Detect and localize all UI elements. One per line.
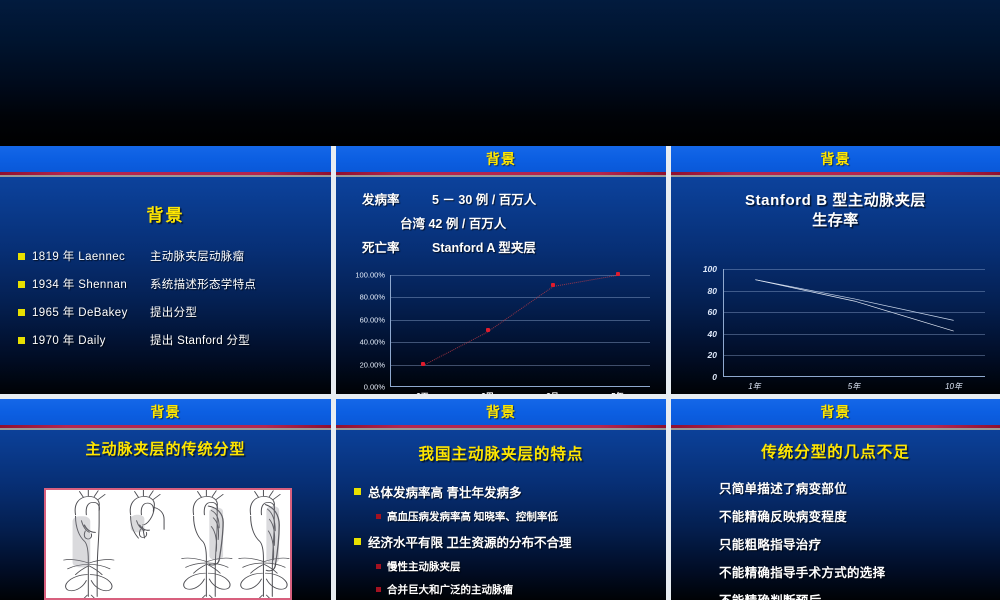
gridline (724, 312, 985, 313)
slide3-headline-line2: 生存率 (671, 211, 1000, 231)
list-item: 合并巨大和广泛的主动脉瘤 (376, 582, 666, 597)
history-year: 1819 年 Laennec (32, 248, 150, 264)
slide5-headline: 我国主动脉夹层的特点 (336, 442, 666, 464)
data-point (551, 283, 555, 287)
x-axis-tick: 1年 (748, 381, 760, 392)
y-axis-tick: 0.00% (364, 383, 385, 392)
history-desc: 系统描述形态学特点 (150, 276, 256, 292)
list-item: 不能精确反映病变程度 (719, 506, 1000, 525)
data-point (486, 328, 490, 332)
slide4-headline: 主动脉夹层的传统分型 (0, 438, 331, 459)
stat-value: Stanford A 型夹层 (432, 237, 536, 256)
slide4-header-title: 背景 (151, 402, 181, 422)
square-bullet-icon (376, 514, 381, 519)
slide4-header-bar: 背景 (0, 399, 331, 425)
slide1-headline: 背景 (0, 201, 331, 226)
gridline (724, 355, 985, 356)
square-bullet-icon (18, 281, 25, 288)
slide-thumbnail-6[interactable]: 背景 传统分型的几点不足 只简单描述了病变部位 不能精确反映病变程度 只能粗略指… (671, 399, 1000, 600)
y-axis-tick-labels: 100.00%80.00%60.00%40.00%20.00%0.00% (342, 275, 388, 387)
slide-sorter-canvas: 背景 1819 年 Laennec 主动脉夹层动脉瘤 1934 年 Shenna… (0, 0, 1000, 600)
slide5-body: 我国主动脉夹层的特点 总体发病率高 青壮年发病多 高血压病发病率高 知晓率、控制… (336, 430, 666, 600)
y-axis-tick: 40.00% (360, 338, 385, 347)
list-item: 经济水平有限 卫生资源的分布不合理 (354, 532, 666, 551)
list-item: 1819 年 Laennec 主动脉夹层动脉瘤 (18, 248, 331, 264)
list-item: 不能精确指导手术方式的选择 (719, 562, 1000, 581)
line-series-svg (724, 269, 985, 376)
slide6-header-title: 背景 (821, 402, 851, 422)
aortic-dissection-classification-illustration (44, 488, 292, 600)
data-point (421, 362, 425, 366)
x-axis-tick: 3月 (546, 391, 558, 394)
history-desc: 提出 Stanford 分型 (150, 332, 250, 348)
list-item-label: 经济水平有限 卫生资源的分布不合理 (368, 532, 571, 551)
x-axis-tick: 2天 (416, 391, 428, 394)
y-axis-tick: 100 (703, 264, 717, 274)
list-item: 1934 年 Shennan 系统描述形态学特点 (18, 276, 331, 292)
slide2-header-title: 背景 (486, 149, 516, 169)
y-axis-tick: 20.00% (360, 360, 385, 369)
list-item-label: 总体发病率高 青壮年发病多 (368, 482, 521, 501)
y-axis-tick: 20 (708, 350, 717, 360)
slide2-stats-block: 发病率 5 － 30 例 / 百万人 台湾 42 例 / 百万人 死亡率 Sta… (336, 177, 666, 256)
slide-thumbnail-3[interactable]: 背景 Stanford B 型主动脉夹层 生存率 100806040200 1年… (671, 146, 1000, 394)
list-item-label: 高血压病发病率高 知晓率、控制率低 (387, 509, 558, 524)
square-bullet-icon (376, 564, 381, 569)
y-axis-tick: 60.00% (360, 315, 385, 324)
trend-line-segment (488, 286, 553, 332)
gridline (391, 297, 650, 298)
slide4-body: 主动脉夹层的传统分型 (0, 430, 331, 600)
slide-thumbnail-1[interactable]: 背景 1819 年 Laennec 主动脉夹层动脉瘤 1934 年 Shenna… (0, 146, 331, 394)
slide1-body: 背景 1819 年 Laennec 主动脉夹层动脉瘤 1934 年 Shenna… (0, 177, 331, 394)
trend-line-segment (423, 331, 488, 365)
y-axis-tick: 100.00% (355, 271, 385, 280)
history-desc: 主动脉夹层动脉瘤 (150, 248, 244, 264)
line-series (755, 280, 953, 331)
y-axis-tick: 40 (708, 329, 717, 339)
list-item: 慢性主动脉夹层 (376, 559, 666, 574)
y-axis-tick: 80 (708, 286, 717, 296)
history-desc: 提出分型 (150, 304, 197, 320)
stat-value: 5 － 30 例 / 百万人 (432, 189, 536, 208)
slide5-feature-list: 总体发病率高 青壮年发病多 高血压病发病率高 知晓率、控制率低 经济水平有限 卫… (354, 482, 666, 597)
survival-line-chart: 100806040200 1年5年10年 内科外科 (681, 269, 991, 394)
slide-thumbnail-5[interactable]: 背景 我国主动脉夹层的特点 总体发病率高 青壮年发病多 高血压病发病率高 知晓率… (336, 399, 666, 600)
square-bullet-icon (354, 538, 361, 545)
y-axis-tick: 60 (708, 307, 717, 317)
slide5-header-bar: 背景 (336, 399, 666, 425)
square-bullet-icon (18, 253, 25, 260)
gridline (391, 342, 650, 343)
gridline (724, 291, 985, 292)
plot-area (723, 269, 985, 377)
x-axis-tick-labels: 2天2周3月5年 (390, 391, 650, 394)
gridline (724, 334, 985, 335)
slide1-header-bar (0, 146, 331, 172)
slide2-header-bar: 背景 (336, 146, 666, 172)
slide-thumbnail-4[interactable]: 背景 主动脉夹层的传统分型 (0, 399, 331, 600)
history-year: 1965 年 DeBakey (32, 304, 150, 320)
square-bullet-icon (18, 309, 25, 316)
stat-row: 发病率 5 － 30 例 / 百万人 (336, 189, 666, 208)
x-axis-tick: 5年 (611, 391, 623, 394)
stat-row: 台湾 42 例 / 百万人 (336, 213, 666, 232)
x-axis-tick-labels: 1年5年10年 (723, 381, 985, 394)
list-item: 高血压病发病率高 知晓率、控制率低 (376, 509, 666, 524)
gridline (391, 320, 650, 321)
slide-thumbnail-2[interactable]: 背景 发病率 5 － 30 例 / 百万人 台湾 42 例 / 百万人 死亡率 … (336, 146, 666, 394)
history-year: 1934 年 Shennan (32, 276, 150, 292)
gridline (391, 365, 650, 366)
y-axis-tick: 80.00% (360, 293, 385, 302)
plot-area (390, 275, 650, 387)
slide2-body: 发病率 5 － 30 例 / 百万人 台湾 42 例 / 百万人 死亡率 Sta… (336, 177, 666, 394)
slide6-shortcoming-list: 只简单描述了病变部位 不能精确反映病变程度 只能粗略指导治疗 不能精确指导手术方… (671, 478, 1000, 600)
history-year: 1970 年 Daily (32, 332, 150, 348)
stat-label: 发病率 (362, 189, 432, 208)
slide1-history-list: 1819 年 Laennec 主动脉夹层动脉瘤 1934 年 Shennan 系… (18, 248, 331, 348)
list-item-label: 慢性主动脉夹层 (387, 559, 461, 574)
trend-line-segment (553, 275, 618, 287)
stat-label: 死亡率 (362, 237, 432, 256)
slide5-header-title: 背景 (486, 402, 516, 422)
slide3-header-title: 背景 (821, 149, 851, 169)
x-axis-tick: 5年 (848, 381, 860, 392)
list-item: 1970 年 Daily 提出 Stanford 分型 (18, 332, 331, 348)
list-item: 不能精确判断预后 (719, 590, 1000, 600)
slide3-headline: Stanford B 型主动脉夹层 生存率 (671, 191, 1000, 232)
stat-value: 台湾 42 例 / 百万人 (400, 213, 506, 232)
data-point (616, 272, 620, 276)
square-bullet-icon (18, 337, 25, 344)
slide3-body: Stanford B 型主动脉夹层 生存率 100806040200 1年5年1… (671, 177, 1000, 394)
list-item: 1965 年 DeBakey 提出分型 (18, 304, 331, 320)
slide6-body: 传统分型的几点不足 只简单描述了病变部位 不能精确反映病变程度 只能粗略指导治疗… (671, 430, 1000, 600)
list-item: 只能粗略指导治疗 (719, 534, 1000, 553)
x-axis-tick: 2周 (481, 391, 493, 394)
list-item: 只简单描述了病变部位 (719, 478, 1000, 497)
square-bullet-icon (354, 488, 361, 495)
slide3-headline-line1: Stanford B 型主动脉夹层 (671, 191, 1000, 211)
gridline (724, 269, 985, 270)
slide6-header-bar: 背景 (671, 399, 1000, 425)
slide-thumbnail-partial-top[interactable] (0, 0, 1000, 146)
square-bullet-icon (376, 587, 381, 592)
y-axis-tick: 0 (712, 372, 717, 382)
y-axis-tick-labels: 100806040200 (681, 269, 721, 377)
list-item-label: 合并巨大和广泛的主动脉瘤 (387, 582, 513, 597)
mortality-scatter-chart: 100.00%80.00%60.00%40.00%20.00%0.00% 2天2… (342, 275, 660, 394)
slide3-header-bar: 背景 (671, 146, 1000, 172)
x-axis-tick: 10年 (945, 381, 962, 392)
list-item: 总体发病率高 青壮年发病多 (354, 482, 666, 501)
slide6-headline: 传统分型的几点不足 (671, 440, 1000, 462)
stat-row: 死亡率 Stanford A 型夹层 (336, 237, 666, 256)
